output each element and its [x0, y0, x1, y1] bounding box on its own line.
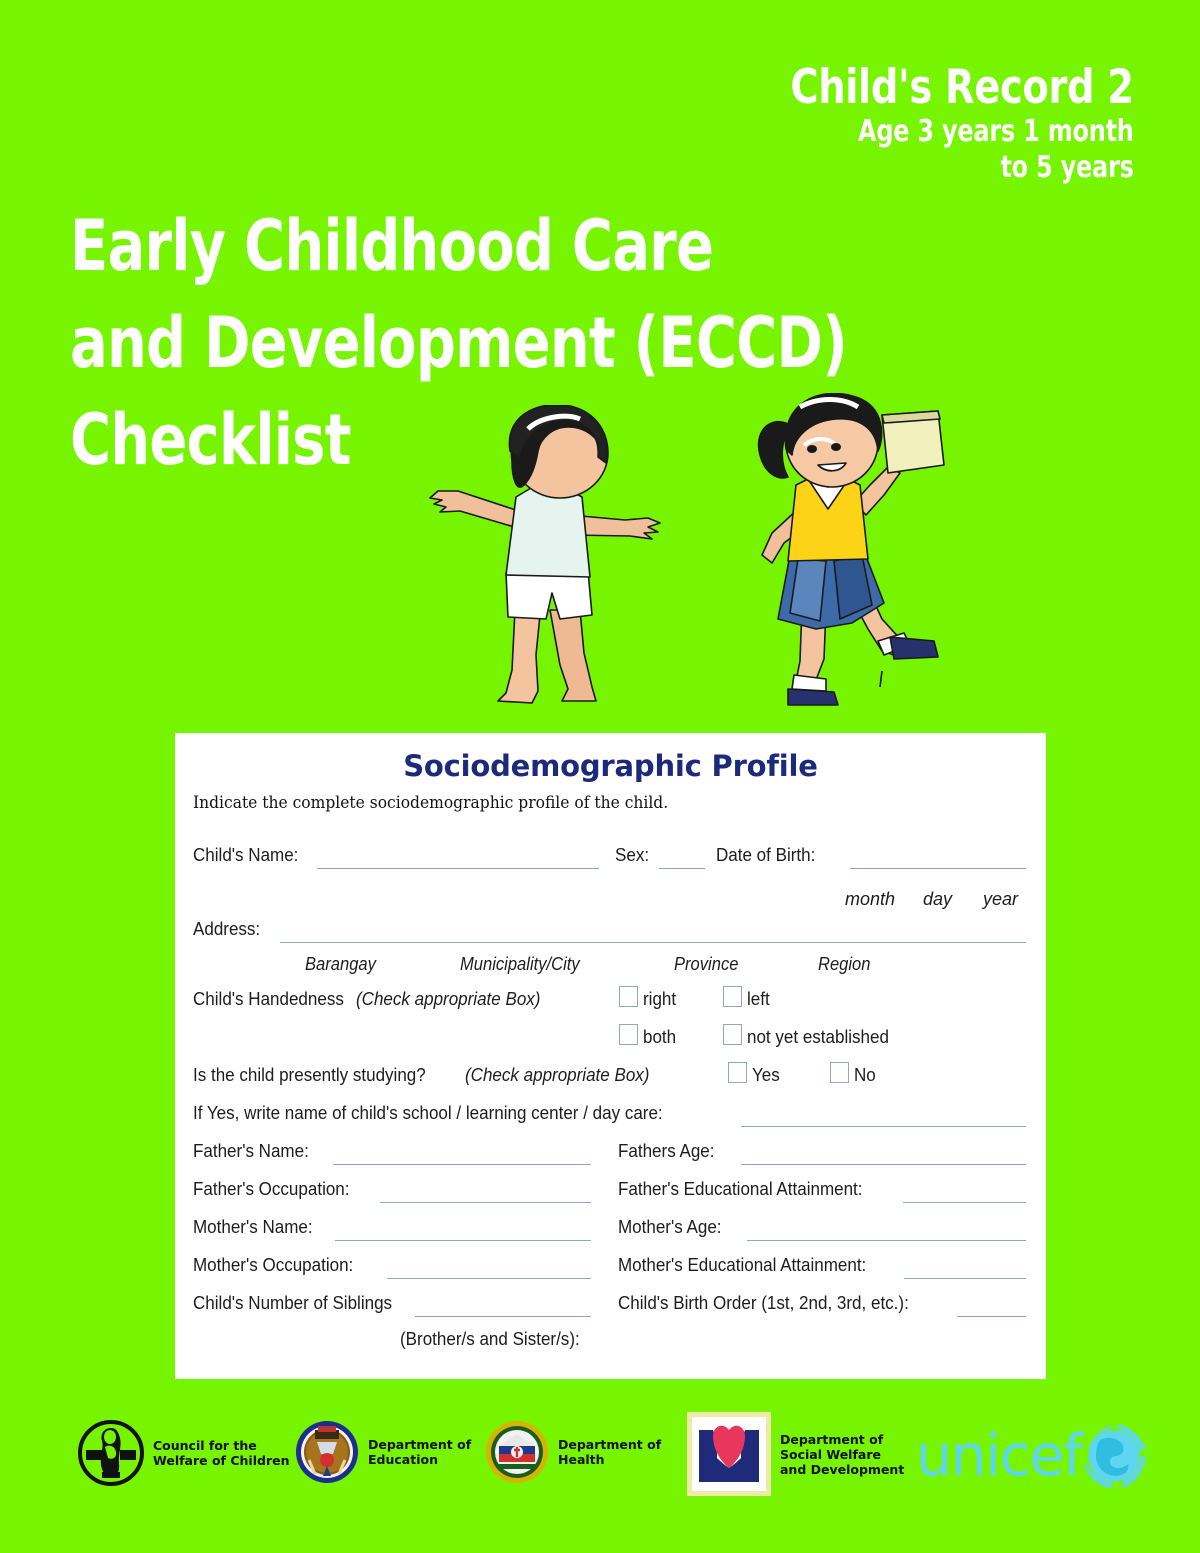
label-handedness-left: left: [747, 990, 770, 1009]
record-title: Child's Record 2: [791, 62, 1134, 114]
sociodemographic-profile-panel: Sociodemographic Profile Indicate the co…: [175, 733, 1046, 1379]
label-studying-no: No: [854, 1066, 876, 1085]
input-birth-order[interactable]: [957, 1316, 1026, 1317]
department-health-seal-icon: [485, 1420, 549, 1484]
logo-department-health-label: Department of Health: [558, 1437, 661, 1467]
checkbox-handedness-left[interactable]: [723, 986, 742, 1007]
label-handedness: Child's Handedness: [193, 990, 344, 1009]
label-mothers-age: Mother's Age:: [618, 1218, 722, 1237]
checkbox-handedness-right[interactable]: [619, 986, 638, 1007]
page-title-line-2: and Development (ECCD): [70, 295, 847, 392]
input-fathers-age[interactable]: [741, 1164, 1026, 1165]
row-mothers-occupation-education: Mother's Occupation: Mother's Educationa…: [175, 1248, 1046, 1286]
label-handedness-note: (Check appropriate Box): [356, 990, 540, 1009]
logo-department-education-label: Department of Education: [368, 1437, 471, 1467]
record-header: Child's Record 2 Age 3 years 1 month to …: [715, 62, 1134, 186]
row-fathers-occupation-education: Father's Occupation: Father's Educationa…: [175, 1172, 1046, 1210]
label-fathers-education: Father's Educational Attainment:: [618, 1180, 863, 1199]
input-date-of-birth[interactable]: [850, 868, 1026, 869]
label-dob-day: day: [923, 890, 952, 908]
dswd-seal-icon: [687, 1412, 771, 1496]
unicef-wordmark: unicef: [916, 1428, 1082, 1485]
label-number-of-siblings: Child's Number of Siblings: [193, 1294, 392, 1313]
logo-council-welfare-children: Council for the Welfare of Children: [78, 1420, 289, 1486]
input-fathers-education[interactable]: [903, 1202, 1026, 1203]
label-handedness-right: right: [643, 990, 676, 1009]
row-handedness: Child's Handedness (Check appropriate Bo…: [175, 982, 1046, 1020]
council-welfare-children-seal-icon: [78, 1420, 144, 1486]
checkbox-studying-yes[interactable]: [728, 1062, 747, 1083]
form-fields: Child's Name: Sex: Date of Birth: month …: [175, 834, 1046, 1354]
label-address: Address:: [193, 920, 260, 939]
record-age-range-line1: Age 3 years 1 month: [799, 114, 1134, 150]
input-school-name[interactable]: [741, 1126, 1026, 1127]
label-birth-order: Child's Birth Order (1st, 2nd, 3rd, etc.…: [618, 1294, 909, 1313]
row-mothers-name-age: Mother's Name: Mother's Age:: [175, 1210, 1046, 1248]
row-siblings-birth-order: Child's Number of Siblings Child's Birth…: [175, 1286, 1046, 1324]
input-mothers-name[interactable]: [335, 1240, 591, 1241]
label-siblings-note: (Brother/s and Sister/s):: [400, 1330, 580, 1349]
checkbox-studying-no[interactable]: [830, 1062, 849, 1083]
input-fathers-name[interactable]: [333, 1164, 591, 1165]
input-mothers-education[interactable]: [904, 1278, 1026, 1279]
row-presently-studying: Is the child presently studying? (Check …: [175, 1058, 1046, 1096]
input-fathers-occupation[interactable]: [380, 1202, 591, 1203]
label-barangay: Barangay: [305, 955, 376, 973]
label-mothers-education: Mother's Educational Attainment:: [618, 1256, 866, 1275]
checkbox-handedness-both[interactable]: [619, 1024, 638, 1045]
label-studying-yes: Yes: [752, 1066, 780, 1085]
checkbox-handedness-not-yet-established[interactable]: [723, 1024, 742, 1045]
label-handedness-not-yet-established: not yet established: [747, 1028, 889, 1047]
record-age-range-line2: to 5 years: [799, 150, 1134, 186]
logo-department-health: Department of Health: [485, 1420, 661, 1484]
logo-council-welfare-children-label: Council for the Welfare of Children: [153, 1438, 289, 1468]
label-municipality-city: Municipality/City: [460, 955, 580, 973]
logo-dswd-label: Department of Social Welfare and Develop…: [780, 1432, 904, 1477]
label-presently-studying: Is the child presently studying?: [193, 1066, 426, 1085]
toddler-standing-illustration: [420, 405, 685, 715]
input-address[interactable]: [280, 942, 1026, 943]
label-date-of-birth: Date of Birth:: [716, 846, 815, 865]
input-sex[interactable]: [659, 868, 705, 869]
input-mothers-age[interactable]: [747, 1240, 1026, 1241]
label-fathers-name: Father's Name:: [193, 1142, 309, 1161]
label-school-name: If Yes, write name of child's school / l…: [193, 1104, 663, 1123]
label-mothers-occupation: Mother's Occupation:: [193, 1256, 353, 1275]
input-number-of-siblings[interactable]: [415, 1316, 591, 1317]
label-fathers-age: Fathers Age:: [618, 1142, 715, 1161]
form-title: Sociodemographic Profile: [175, 749, 1046, 783]
logo-dswd: Department of Social Welfare and Develop…: [687, 1412, 904, 1496]
row-school-name: If Yes, write name of child's school / l…: [175, 1096, 1046, 1134]
label-province: Province: [674, 955, 738, 973]
input-mothers-occupation[interactable]: [387, 1278, 591, 1279]
label-fathers-occupation: Father's Occupation:: [193, 1180, 350, 1199]
logo-department-education: Department of Education: [295, 1420, 471, 1484]
footer-logos: Council for the Welfare of Children Depa…: [0, 1408, 1200, 1518]
row-dob-sublabels: month day year: [175, 880, 1046, 916]
form-instruction: Indicate the complete sociodemographic p…: [193, 793, 995, 812]
logo-unicef: unicef: [916, 1420, 1150, 1492]
input-childs-name[interactable]: [317, 868, 599, 869]
row-handedness-2: both not yet established: [175, 1020, 1046, 1058]
label-dob-year: year: [983, 890, 1018, 908]
row-address-sublabels: Barangay Municipality/City Province Regi…: [175, 946, 1046, 982]
label-presently-studying-note: (Check appropriate Box): [465, 1066, 649, 1085]
label-childs-name: Child's Name:: [193, 846, 298, 865]
label-dob-month: month: [845, 890, 895, 908]
row-name-sex-dob: Child's Name: Sex: Date of Birth:: [175, 834, 1046, 880]
row-fathers-name-age: Father's Name: Fathers Age:: [175, 1134, 1046, 1172]
label-mothers-name: Mother's Name:: [193, 1218, 313, 1237]
label-region: Region: [818, 955, 870, 973]
row-address: Address:: [175, 916, 1046, 946]
row-siblings-note: (Brother/s and Sister/s):: [175, 1324, 1046, 1354]
unicef-globe-icon: [1078, 1420, 1150, 1492]
department-education-seal-icon: [295, 1420, 359, 1484]
girl-with-book-illustration: [742, 393, 957, 715]
page-title-line-1: Early Childhood Care: [70, 198, 847, 295]
label-sex: Sex:: [615, 846, 649, 865]
label-handedness-both: both: [643, 1028, 676, 1047]
